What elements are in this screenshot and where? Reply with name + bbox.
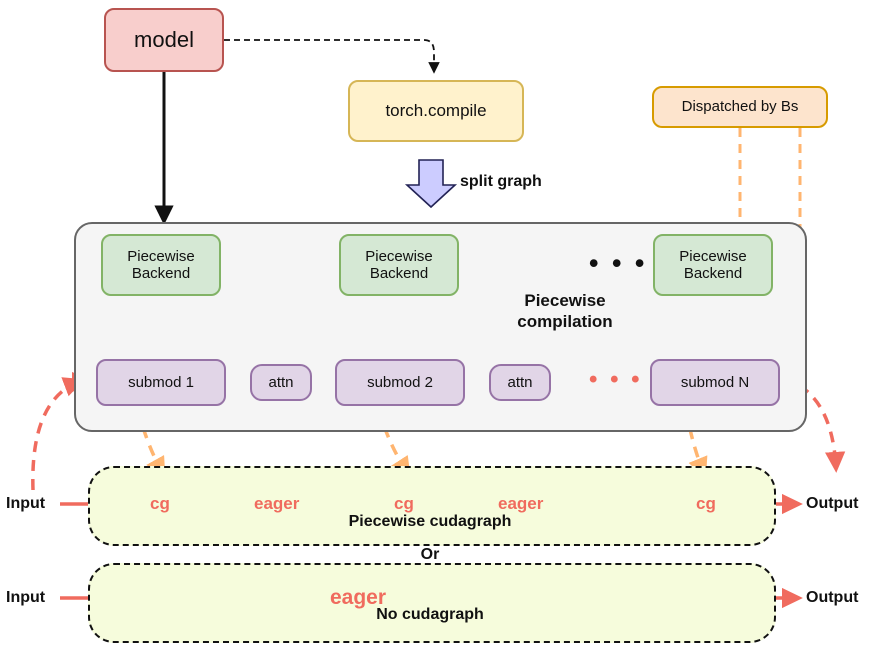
nocudagraph-output-label: Output [806,589,858,607]
edge-input-to-submod1 [33,381,80,490]
piecewise-backend-2-line1: Piecewise [365,248,433,265]
dispatched-by-bs-box[interactable]: Dispatched by Bs [652,86,828,128]
diagram-canvas: model torch.compile Dispatched by Bs spl… [0,0,874,663]
submod-n[interactable]: submod N [650,359,780,406]
piecewise-cudagraph-box [88,466,776,546]
cudagraph-output-label: Output [806,495,858,513]
no-cudagraph-box [88,563,776,643]
submod-2[interactable]: submod 2 [335,359,465,406]
cudagraph-stage-3: cg [394,494,414,514]
split-graph-label: split graph [460,173,542,191]
attn-1-label: attn [268,374,293,391]
attn-1[interactable]: attn [250,364,312,401]
submod-1[interactable]: submod 1 [96,359,226,406]
submod-n-label: submod N [681,374,749,391]
nocudagraph-input-label: Input [6,589,45,607]
model-label: model [134,27,194,52]
piecewise-compilation-label: Piecewise compilation [495,290,635,333]
split-graph-arrow [407,160,455,207]
piecewise-cudagraph-label: Piecewise cudagraph [88,513,772,531]
submod-2-label: submod 2 [367,374,433,391]
no-cudagraph-label: No cudagraph [88,606,772,624]
piecewise-backend-2[interactable]: Piecewise Backend [339,234,459,296]
edge-model-to-compile [224,40,434,72]
torch-compile-label: torch.compile [385,101,486,121]
model-box[interactable]: model [104,8,224,72]
cudagraph-stage-4: eager [498,494,543,514]
cudagraph-stage-2: eager [254,494,299,514]
piecewise-backend-1-line2: Backend [132,265,190,282]
attn-2-label: attn [507,374,532,391]
or-label: Or [88,546,772,564]
cudagraph-input-label: Input [6,495,45,513]
piecewise-backend-3[interactable]: Piecewise Backend [653,234,773,296]
piecewise-compilation-line1: Piecewise [495,290,635,311]
piecewise-backend-1-line1: Piecewise [127,248,195,265]
cudagraph-stage-5: cg [696,494,716,514]
piecewise-backend-2-line2: Backend [370,265,428,282]
torch-compile-box[interactable]: torch.compile [348,80,524,142]
cudagraph-stage-1: cg [150,494,170,514]
piecewise-backend-3-line2: Backend [684,265,742,282]
piecewise-backend-1[interactable]: Piecewise Backend [101,234,221,296]
piecewise-backend-3-line1: Piecewise [679,248,747,265]
ellipsis-backends: • • • [589,248,647,279]
piecewise-compilation-line2: compilation [495,311,635,332]
dispatched-by-bs-label: Dispatched by Bs [682,98,799,115]
ellipsis-submods: • • • [589,366,643,394]
submod-1-label: submod 1 [128,374,194,391]
attn-2[interactable]: attn [489,364,551,401]
